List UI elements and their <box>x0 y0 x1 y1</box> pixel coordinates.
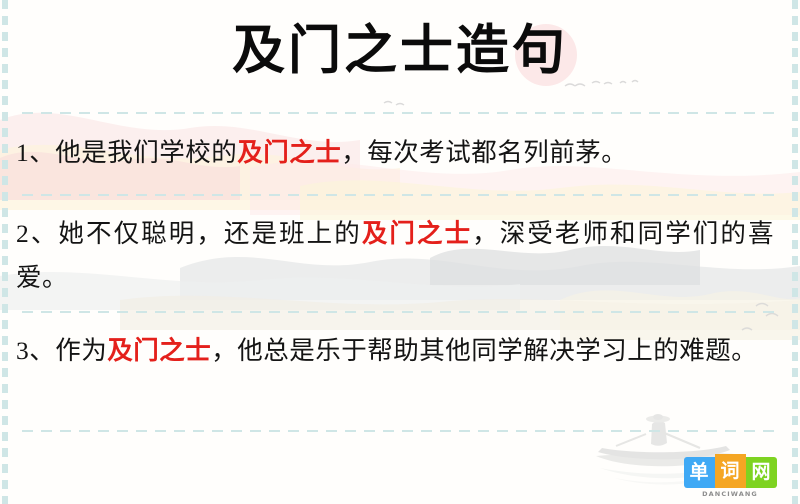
sentence-number-1: 1、 <box>16 138 55 167</box>
logo-char-ci: 词 <box>715 454 746 488</box>
sentence-number-3: 3、 <box>16 336 55 365</box>
sentence-3-text-before: 作为 <box>55 336 107 365</box>
sentence-3-keyword: 及门之士 <box>107 336 211 365</box>
sentence-3-text-after: ，他总是乐于帮助其他同学解决学习上的难题。 <box>211 336 757 365</box>
sentence-2-keyword: 及门之士 <box>362 219 472 248</box>
example-sentence-2: 2、她不仅聪明，还是班上的及门之士，深受老师和同学们的喜爱。 <box>16 212 774 300</box>
divider-line-1 <box>22 112 778 114</box>
divider-line-3 <box>22 311 778 313</box>
sentence-number-2: 2、 <box>16 219 58 248</box>
slide-page: 及门之士造句 1、他是我们学校的及门之士，每次考试都名列前茅。 2、她不仅聪明，… <box>0 0 800 504</box>
logo-char-dan: 单 <box>684 457 715 488</box>
page-title: 及门之士造句 <box>0 17 800 83</box>
site-logo[interactable]: 单 词 网 DANCIWANG <box>678 454 782 498</box>
divider-line-4 <box>22 430 778 432</box>
content-area: 及门之士造句 1、他是我们学校的及门之士，每次考试都名列前茅。 2、她不仅聪明，… <box>0 0 800 504</box>
example-sentence-1: 1、他是我们学校的及门之士，每次考试都名列前茅。 <box>16 131 774 175</box>
sentence-1-keyword: 及门之士 <box>237 138 341 167</box>
example-sentence-3: 3、作为及门之士，他总是乐于帮助其他同学解决学习上的难题。 <box>16 329 774 373</box>
divider-line-2 <box>22 194 778 196</box>
logo-char-wang: 网 <box>746 457 777 488</box>
logo-subtitle: DANCIWANG <box>678 490 782 498</box>
sentence-1-text-after: ，每次考试都名列前茅。 <box>341 138 627 167</box>
logo-blocks: 单 词 网 <box>678 454 782 488</box>
sentence-2-text-before: 她不仅聪明，还是班上的 <box>58 219 361 248</box>
sentence-1-text-before: 他是我们学校的 <box>55 138 237 167</box>
